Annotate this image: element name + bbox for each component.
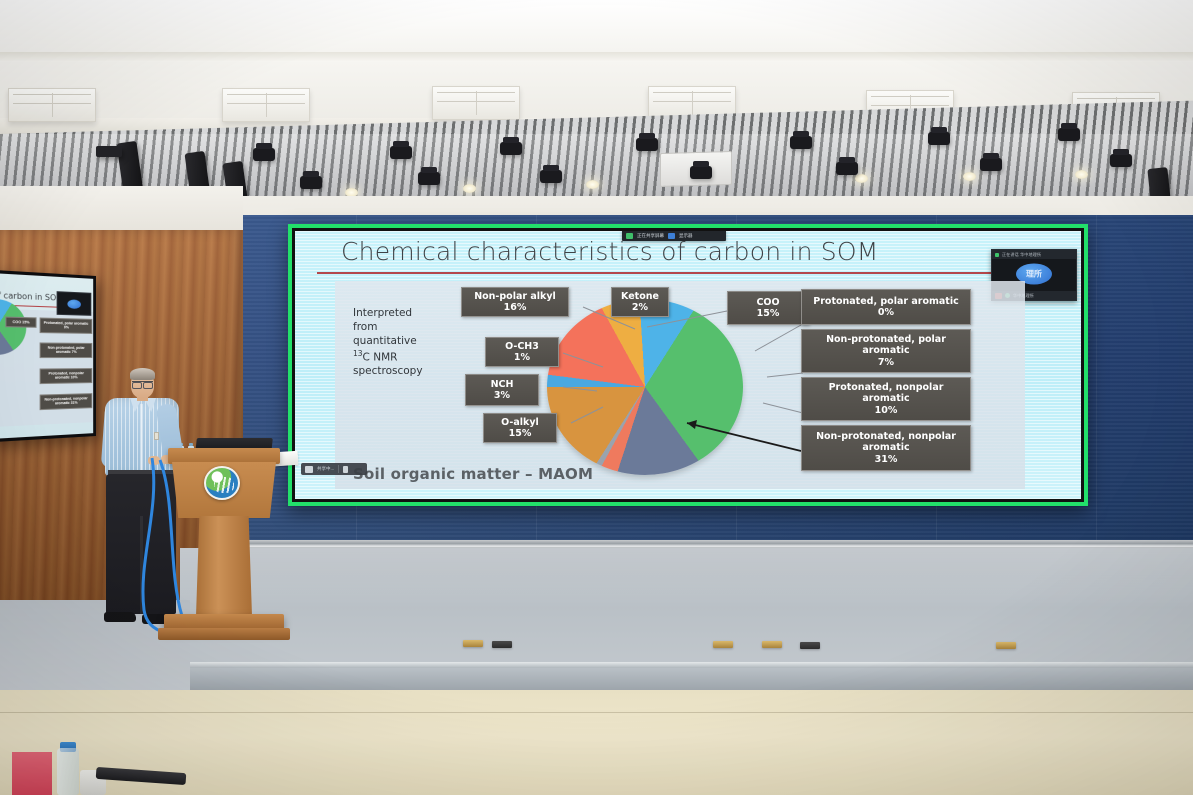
stage-spotlight bbox=[636, 138, 658, 151]
floating-toolbar-text: 共享中... bbox=[317, 466, 334, 472]
ac-vent bbox=[222, 88, 310, 122]
stage-spotlight bbox=[690, 166, 712, 179]
stage-spotlight bbox=[928, 132, 950, 145]
floor-outlet-cover bbox=[762, 641, 782, 648]
podium-base-plinth bbox=[158, 628, 290, 640]
title-underline bbox=[317, 272, 1037, 274]
ac-vent bbox=[432, 86, 520, 120]
glasses-icon bbox=[132, 381, 153, 386]
downlight bbox=[963, 172, 976, 181]
note-superscript: 13 bbox=[353, 349, 363, 358]
pie-chart bbox=[547, 299, 743, 475]
stage-spotlight bbox=[836, 162, 858, 175]
slide-footer: Soil organic matter – MAOM bbox=[353, 465, 593, 483]
slide-title: Chemical characteristics of carbon in SO… bbox=[341, 237, 1061, 266]
callout-protonated-polar-aromatic[interactable]: Protonated, polar aromatic 0% bbox=[801, 289, 971, 325]
side-monitor-label: Non-protonated, nonpolar aromatic 31% bbox=[40, 393, 93, 410]
downlight bbox=[1075, 170, 1088, 179]
presenter-hair bbox=[130, 368, 155, 380]
side-monitor-video-thumbnail bbox=[57, 291, 92, 316]
presenter-pocket-badge bbox=[154, 432, 159, 440]
floor-outlet-cover bbox=[463, 640, 483, 647]
downlight bbox=[586, 180, 599, 189]
video-thumb-header-text: 正在讲话 华中地理所 bbox=[1002, 252, 1041, 258]
callout-non-polar-alkyl[interactable]: Non-polar alkyl 16% bbox=[461, 287, 569, 317]
podium-top bbox=[168, 448, 280, 464]
stage-spotlight bbox=[253, 148, 275, 161]
projection-screen[interactable]: 正在共享屏幕 显示器 Chemical characteristics of c… bbox=[288, 224, 1088, 506]
video-thumb-header: 正在讲话 华中地理所 bbox=[992, 250, 1076, 259]
side-monitor-title: of carbon in SOM bbox=[0, 290, 63, 302]
side-monitor-label: Protonated, nonpolar aromatic 10% bbox=[40, 368, 93, 384]
side-monitor-label: COO 15% bbox=[5, 317, 36, 329]
toolbar-divider bbox=[338, 465, 339, 473]
callout-protonated-nonpolar-aromatic[interactable]: Protonated, nonpolar aromatic 10% bbox=[801, 377, 971, 421]
left-upper-wall bbox=[0, 186, 243, 234]
stage-spotlight bbox=[418, 172, 440, 185]
callout-nch[interactable]: NCH 3% bbox=[465, 374, 539, 406]
stage-spotlight bbox=[790, 136, 812, 149]
speaking-indicator-icon bbox=[995, 253, 999, 257]
stage-spotlight bbox=[390, 146, 412, 159]
callout-coo[interactable]: COO 15% bbox=[727, 291, 809, 325]
floor-seam bbox=[0, 712, 1193, 713]
side-monitor[interactable]: of carbon in SOM COO 15% Protonated, pol… bbox=[0, 270, 96, 443]
foreground-red-object bbox=[12, 752, 52, 795]
lecture-hall-scene: of carbon in SOM COO 15% Protonated, pol… bbox=[0, 0, 1193, 795]
downlight bbox=[855, 174, 868, 183]
floor-outlet-cover bbox=[996, 642, 1016, 649]
callout-non-protonated-polar-aromatic[interactable]: Non-protonated, polar aromatic 7% bbox=[801, 329, 971, 373]
stage-spotlight bbox=[500, 142, 522, 155]
pie-slices bbox=[547, 299, 743, 475]
stage-spotlight bbox=[300, 176, 322, 189]
screen-share-icon[interactable] bbox=[305, 466, 313, 473]
ceiling-beam bbox=[0, 0, 1193, 58]
stage-floor-reflection bbox=[180, 548, 1193, 608]
downlight bbox=[463, 184, 476, 193]
floor-outlet-cover bbox=[713, 641, 733, 648]
ceiling-beam-shadow bbox=[0, 52, 1193, 62]
more-options-icon[interactable] bbox=[343, 466, 348, 473]
side-monitor-label: Protonated, polar aromatic 0% bbox=[40, 317, 93, 333]
institution-logo bbox=[204, 466, 240, 500]
speaker-mount bbox=[96, 146, 122, 157]
foreground-water-bottle bbox=[57, 748, 79, 795]
callout-o-alkyl[interactable]: O-alkyl 15% bbox=[483, 413, 557, 443]
callout-non-protonated-nonpolar-aromatic[interactable]: Non-protonated, nonpolar aromatic 31% bbox=[801, 425, 971, 471]
ac-vent bbox=[8, 88, 96, 122]
podium-column bbox=[196, 516, 252, 616]
floor-outlet-cover bbox=[800, 642, 820, 649]
floating-share-toolbar[interactable]: 共享中... bbox=[301, 463, 367, 475]
callout-ketone[interactable]: Ketone 2% bbox=[611, 287, 669, 317]
stage-spotlight bbox=[540, 170, 562, 183]
stage-spotlight bbox=[1058, 128, 1080, 141]
presentation-slide[interactable]: 正在共享屏幕 显示器 Chemical characteristics of c… bbox=[295, 231, 1081, 499]
chart-panel: Interpreted from quantitative 13C NMR sp… bbox=[335, 281, 1025, 489]
side-monitor-label: Non-protonated, polar aromatic 7% bbox=[40, 342, 93, 358]
callout-o-ch3[interactable]: O-CH3 1% bbox=[485, 337, 559, 367]
stage-spotlight bbox=[980, 158, 1002, 171]
floor-outlet-cover bbox=[492, 641, 512, 648]
stage-spotlight bbox=[1110, 154, 1132, 167]
side-monitor-slide: of carbon in SOM COO 15% Protonated, pol… bbox=[0, 273, 93, 439]
interpretation-note: Interpreted from quantitative 13C NMR sp… bbox=[353, 307, 468, 379]
